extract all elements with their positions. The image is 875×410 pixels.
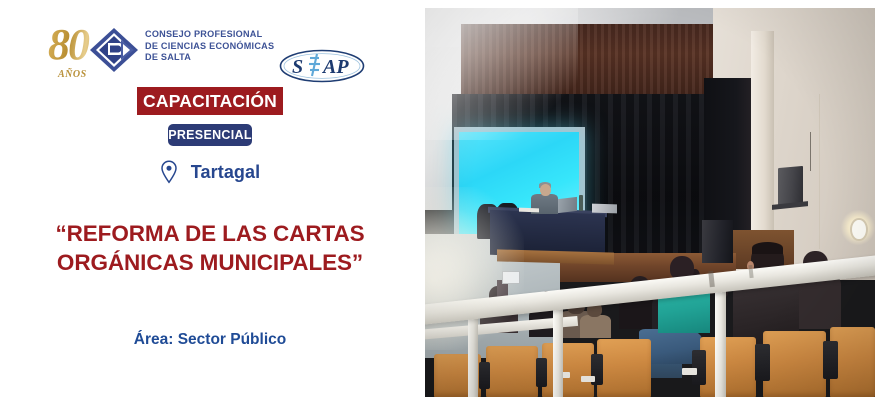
svg-text:AP: AP: [321, 56, 349, 78]
cpce-emblem-icon: [88, 26, 140, 74]
photo-wall-sconce: [850, 218, 868, 241]
presencial-badge: PRESENCIAL: [168, 124, 252, 146]
photo-audience-hair: [752, 242, 783, 254]
institution-name-line-3: DE SALTA: [145, 52, 277, 64]
photo-auditorium-seat: [700, 337, 756, 397]
photo-papers: [519, 208, 539, 213]
location-city: Tartagal: [191, 162, 261, 183]
institution-name-line-1: CONSEJO PROFESIONAL: [145, 29, 277, 41]
capacitacion-badge: CAPACITACIÓN: [137, 87, 283, 115]
event-photo: [425, 8, 875, 397]
photo-seat-armrest: [823, 341, 838, 380]
course-area: Área: Sector Público: [22, 331, 398, 349]
photo-seat-armrest: [479, 362, 490, 389]
photo-railing-mark: [708, 270, 715, 286]
photo-auditorium-seat: [542, 343, 594, 397]
photo-audience-member: [580, 315, 612, 338]
photo-speaker-wire: [810, 132, 811, 171]
photo-wall-pillar: [751, 31, 774, 249]
photo-railing-post: [715, 280, 726, 397]
photo-phone-recording: [502, 271, 520, 285]
photo-seat-number-tag: [682, 368, 697, 375]
course-title: “REFORMA DE LAS CARTAS ORGÁNICAS MUNICIP…: [22, 219, 398, 277]
photo-auditorium-seat: [597, 339, 651, 397]
location-row: Tartagal: [0, 160, 420, 184]
cpce-logo: 80 AÑOS CONSEJO PROFESIONAL DE CIENCIAS …: [48, 18, 278, 90]
logo-row: 80 AÑOS CONSEJO PROFESIONAL DE CIENCIAS …: [0, 18, 420, 90]
photo-seat-number-tag: [581, 376, 595, 382]
photo-seat-armrest: [536, 358, 548, 387]
photo-laptop: [558, 197, 577, 213]
photo-auditorium-seat: [486, 346, 538, 397]
photo-seat-armrest: [755, 344, 769, 381]
wall-speaker-icon: [778, 166, 803, 205]
promotional-poster: 80 AÑOS CONSEJO PROFESIONAL DE CIENCIAS …: [0, 0, 875, 410]
institution-name: CONSEJO PROFESIONAL DE CIENCIAS ECONÓMIC…: [145, 29, 277, 64]
photo-stack-speaker: [702, 220, 734, 263]
siap-logo-icon: S AP: [279, 48, 365, 84]
info-panel: 80 AÑOS CONSEJO PROFESIONAL DE CIENCIAS …: [0, 0, 420, 410]
photo-projector: [592, 203, 617, 213]
photo-auditorium-seat: [763, 331, 826, 397]
photo-wall-cable: [819, 94, 821, 250]
institution-name-line-2: DE CIENCIAS ECONÓMICAS: [145, 41, 277, 53]
anniversary-word: AÑOS: [58, 69, 87, 80]
map-pin-icon: [160, 160, 178, 184]
photo-presenter-head: [540, 184, 551, 196]
svg-text:S: S: [292, 56, 303, 78]
photo-water-bottle: [579, 195, 584, 211]
